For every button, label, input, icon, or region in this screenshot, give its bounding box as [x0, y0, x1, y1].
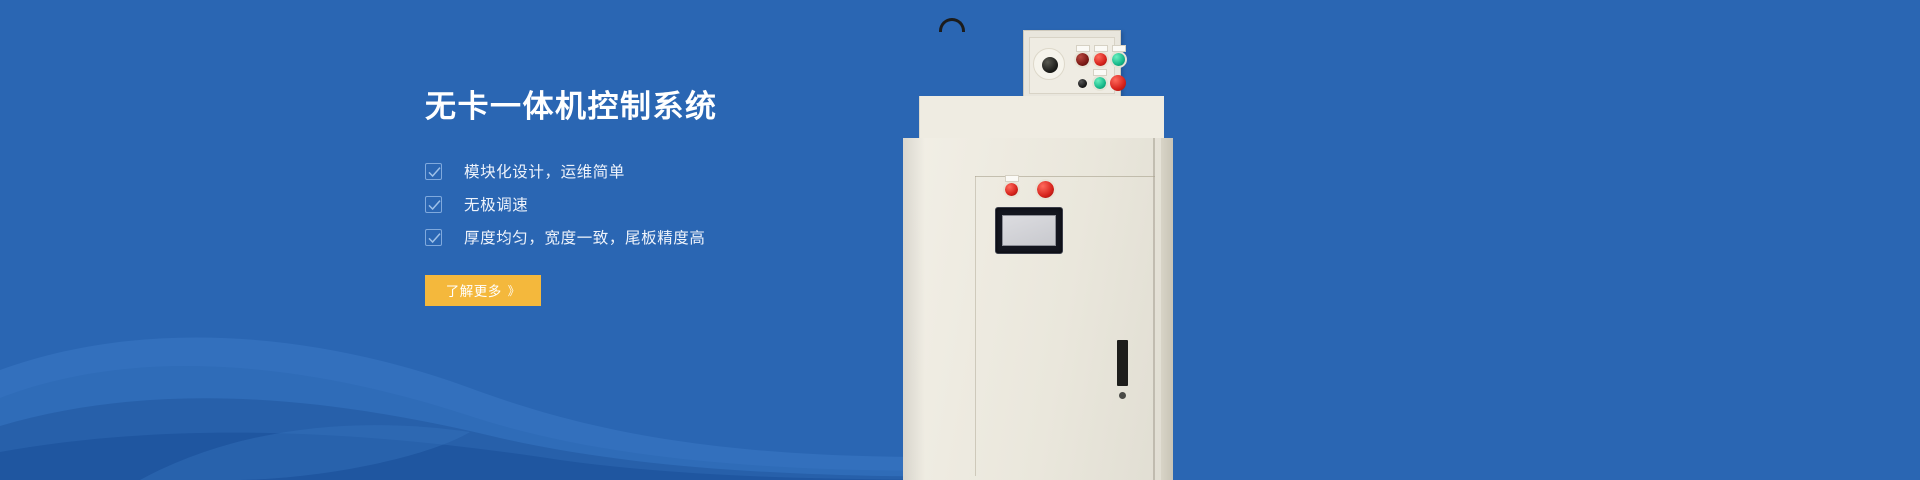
learn-more-label: 了解更多 [446, 280, 502, 300]
cabinet-side-edge [1161, 138, 1173, 480]
feature-list: 模块化设计，运维简单 无极调速 厚度均匀，宽度一致，尾板精度高 [425, 155, 945, 254]
list-item: 模块化设计，运维简单 [425, 155, 945, 188]
cabinet-door-edge-vertical [975, 176, 976, 476]
list-item: 厚度均匀，宽度一致，尾板精度高 [425, 221, 945, 254]
red-push-button[interactable] [1094, 53, 1107, 66]
cabinet-seam [1153, 138, 1155, 480]
banner-content: 无卡一体机控制系统 模块化设计，运维简单 无极调速 [425, 88, 945, 306]
cabinet-door-edge [975, 176, 1155, 177]
hmi-screen-surface[interactable] [1002, 215, 1056, 246]
list-item: 无极调速 [425, 188, 945, 221]
rotary-selector-plate [1033, 48, 1065, 80]
emergency-stop-button[interactable] [1110, 75, 1126, 91]
indicator-push-button[interactable] [1005, 183, 1018, 196]
checkbox-check-icon [425, 229, 442, 246]
cabinet-top-cap [919, 96, 1164, 140]
hero-banner: 无卡一体机控制系统 模块化设计，运维简单 无极调速 [0, 0, 1920, 480]
green-push-button[interactable] [1112, 53, 1125, 66]
list-item-label: 厚度均匀，宽度一致，尾板精度高 [464, 226, 706, 248]
cabinet-lock-dot [1119, 392, 1126, 399]
carry-handle [939, 18, 965, 32]
checkbox-check-icon [425, 163, 442, 180]
learn-more-button[interactable]: 了解更多 》 [425, 275, 541, 306]
dark-red-push-button[interactable] [1076, 53, 1089, 66]
hmi-touchscreen[interactable] [995, 207, 1063, 254]
checkbox-check-icon [425, 196, 442, 213]
black-push-button[interactable] [1078, 79, 1087, 88]
rotary-selector-knob[interactable] [1042, 57, 1058, 73]
emergency-stop-button[interactable] [1037, 181, 1054, 198]
list-item-label: 模块化设计，运维简单 [464, 160, 625, 182]
top-control-panel [1023, 30, 1121, 100]
cabinet-lock-strip [1117, 340, 1128, 386]
green-push-button-2[interactable] [1094, 77, 1106, 89]
page-title: 无卡一体机控制系统 [425, 88, 945, 127]
chevron-right-icon: 》 [508, 282, 521, 299]
list-item-label: 无极调速 [464, 193, 528, 215]
